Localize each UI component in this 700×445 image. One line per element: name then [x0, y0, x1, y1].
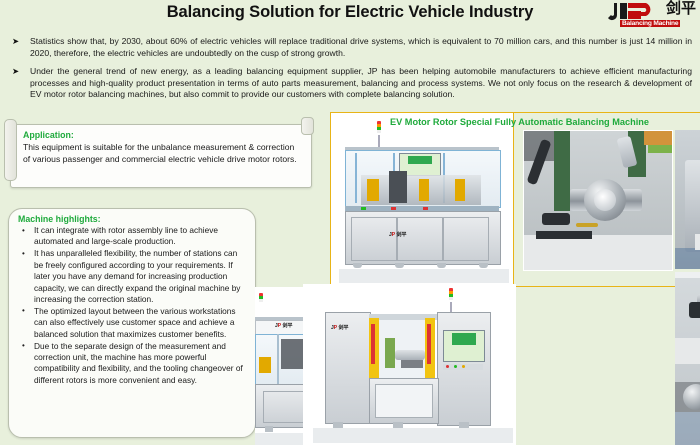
jp-logo-tagline: Balancing Machine [620, 20, 680, 27]
jp-logo-mark [606, 2, 664, 21]
jp-logo: 剑平 Balancing Machine [606, 2, 696, 28]
intro-bullets: ➤ Statistics show that, by 2030, about 6… [8, 36, 692, 108]
dot-bullet-icon: • [22, 225, 25, 236]
photo-rotor-closeup-measurement-station [523, 130, 673, 271]
arrow-bullet-icon: ➤ [12, 36, 19, 48]
photo-rotor-tooling-detail [675, 272, 700, 445]
stack-light-icon [449, 288, 453, 302]
intro-bullet-1-text: Statistics show that, by 2030, about 60%… [30, 36, 692, 58]
dot-bullet-icon: • [22, 340, 25, 351]
list-item-text: It has unparalleled flexibility, the num… [34, 248, 240, 304]
dot-bullet-icon: • [22, 248, 25, 259]
hmi-screen [443, 330, 485, 362]
photo-collage: JP 剑平 EV Motor Rotor Special Fully Autom… [255, 112, 700, 445]
photo-main-balancing-machine: JP 剑平 [330, 112, 514, 289]
scroll-curl-left-icon [4, 119, 17, 181]
stack-light-icon [259, 293, 263, 307]
jp-logo-chinese: 剑平 [666, 1, 696, 16]
collage-heading: EV Motor Rotor Special Fully Automatic B… [390, 117, 700, 127]
list-item-text: The optimized layout between the various… [34, 306, 236, 339]
photo-rotor-closeup-correction-station [675, 130, 700, 269]
photo-standalone-balancing-machine: JP 剑平 [303, 284, 516, 445]
list-item: • The optimized layout between the vario… [18, 306, 247, 340]
highlights-heading: Machine highlights: [18, 214, 247, 224]
dot-bullet-icon: • [22, 305, 25, 316]
page-title: Balancing Solution for Electric Vehicle … [0, 3, 700, 22]
list-item-text: Due to the separate design of the measur… [34, 341, 243, 385]
highlights-list: • It can integrate with rotor assembly l… [18, 225, 247, 386]
intro-bullet-2: ➤ Under the general trend of new energy,… [8, 66, 692, 101]
intro-bullet-1: ➤ Statistics show that, by 2030, about 6… [8, 36, 692, 59]
page-header: Balancing Solution for Electric Vehicle … [0, 0, 700, 30]
machine-highlights-callout: Machine highlights: • It can integrate w… [8, 208, 256, 438]
list-item: • It has unparalleled flexibility, the n… [18, 248, 247, 305]
arrow-bullet-icon: ➤ [12, 66, 19, 78]
list-item: • Due to the separate design of the meas… [18, 341, 247, 387]
intro-bullet-2-text: Under the general trend of new energy, a… [30, 66, 692, 99]
stack-light-icon [377, 121, 381, 135]
list-item: • It can integrate with rotor assembly l… [18, 225, 247, 248]
list-item-text: It can integrate with rotor assembly lin… [34, 225, 218, 246]
